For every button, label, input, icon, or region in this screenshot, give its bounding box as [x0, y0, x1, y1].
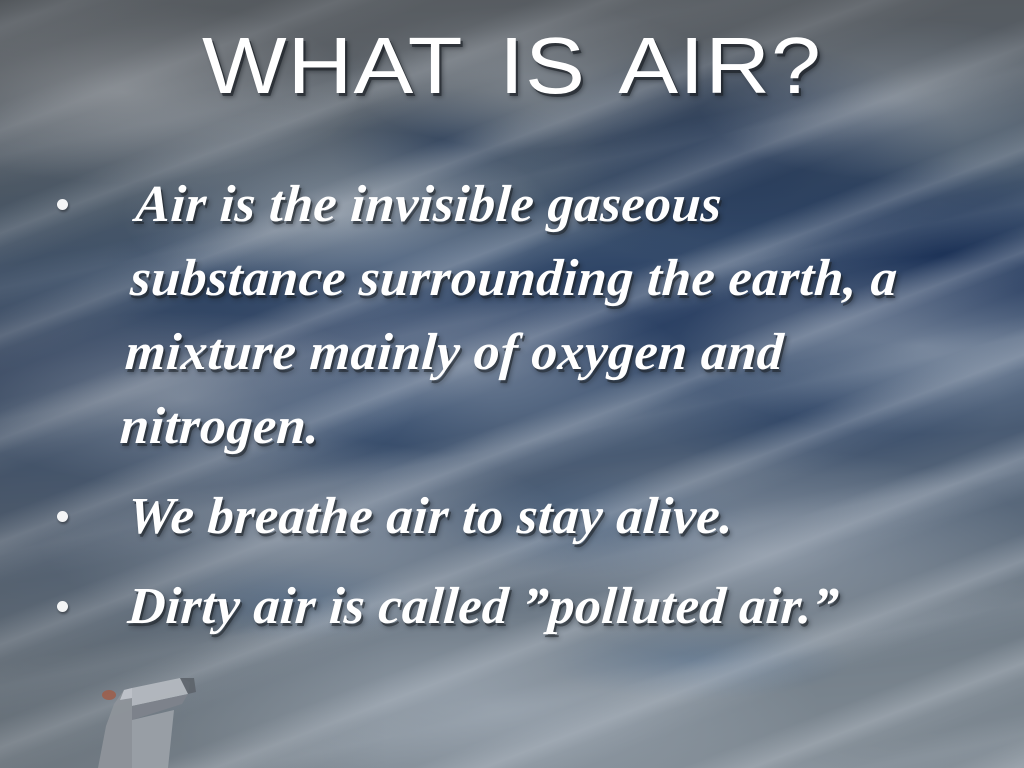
list-item: We breathe air to stay alive.	[46, 480, 986, 554]
page-title: WHAT IS AIR?	[0, 26, 1024, 106]
bullet-dot-icon	[57, 199, 68, 210]
bullet-dot-icon	[57, 601, 68, 612]
list-item: Dirty air is called ”polluted air.”	[46, 570, 986, 644]
bullet-text: Dirty air is called ”polluted air.”	[125, 570, 988, 644]
slide: WHAT IS AIR? Air is the invisible gaseou…	[0, 0, 1024, 768]
list-item: Air is the invisible gaseous substance s…	[46, 168, 986, 464]
bullet-text: Air is the invisible gaseous substance s…	[118, 168, 929, 464]
bullet-list: Air is the invisible gaseous substance s…	[46, 168, 986, 660]
bullet-dot-icon	[57, 511, 68, 522]
bullet-text: We breathe air to stay alive.	[125, 480, 988, 554]
airplane-tail-icon	[62, 648, 242, 768]
